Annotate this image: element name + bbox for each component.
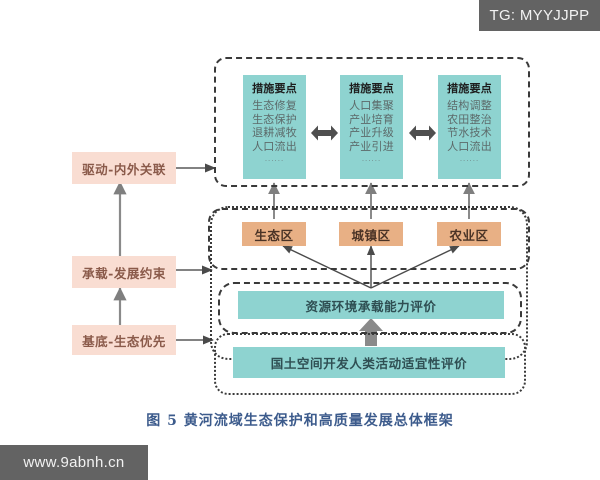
driver-label-1[interactable]: 承载-发展约束 — [72, 256, 176, 288]
measure-card-0-ellipsis: ······ — [265, 157, 284, 165]
tg-watermark-text: TG: MYYJJPP — [490, 7, 590, 24]
figure-canvas: 驱动-内外关联 承载-发展约束 基底-生态优先 措施要点 生态修复 生态保护 退… — [0, 0, 600, 480]
measure-card-1-title: 措施要点 — [349, 80, 394, 96]
evaluation-suitability-bar[interactable]: 国土空间开发人类活动适宜性评价 — [233, 347, 505, 378]
zone-box-2-label: 农业区 — [449, 225, 488, 244]
measure-card-agricultural[interactable]: 措施要点 结构调整 农田整治 节水技术 人口流出 ······ — [438, 75, 501, 179]
measure-card-urban[interactable]: 措施要点 人口集聚 产业培育 产业升级 产业引进 ······ — [340, 75, 403, 179]
measure-card-1-item-2: 产业升级 — [349, 126, 394, 140]
measure-card-2-item-3: 人口流出 — [447, 140, 492, 154]
driver-label-0[interactable]: 驱动-内外关联 — [72, 152, 176, 184]
measure-card-0-item-2: 退耕减牧 — [252, 126, 297, 140]
measure-card-0-item-1: 生态保护 — [252, 113, 297, 127]
measure-card-1-item-0: 人口集聚 — [349, 99, 394, 113]
measure-card-ecological[interactable]: 措施要点 生态修复 生态保护 退耕减牧 人口流出 ······ — [243, 75, 306, 179]
measure-card-2-item-0: 结构调整 — [447, 99, 492, 113]
measure-card-2-ellipsis: ······ — [460, 157, 479, 165]
evaluation-capacity-label: 资源环境承载能力评价 — [305, 296, 436, 315]
zone-box-1-label: 城镇区 — [351, 225, 390, 244]
zone-box-urban[interactable]: 城镇区 — [339, 222, 403, 246]
measure-card-2-item-2: 节水技术 — [447, 126, 492, 140]
driver-label-1-text: 承载-发展约束 — [82, 263, 166, 282]
zone-box-0-label: 生态区 — [254, 225, 293, 244]
measure-card-1-item-1: 产业培育 — [349, 113, 394, 127]
zone-box-ecological[interactable]: 生态区 — [242, 222, 306, 246]
site-watermark-badge: www.9abnh.cn — [0, 445, 148, 480]
measure-card-0-item-3: 人口流出 — [252, 140, 297, 154]
site-watermark-text: www.9abnh.cn — [23, 454, 124, 471]
measure-card-2-item-1: 农田整治 — [447, 113, 492, 127]
measure-card-0-title: 措施要点 — [252, 80, 297, 96]
driver-label-2-text: 基底-生态优先 — [82, 331, 166, 350]
driver-label-0-text: 驱动-内外关联 — [82, 159, 166, 178]
driver-label-2[interactable]: 基底-生态优先 — [72, 325, 176, 355]
zone-box-agricultural[interactable]: 农业区 — [437, 222, 501, 246]
measure-card-2-title: 措施要点 — [447, 80, 492, 96]
measure-card-1-item-3: 产业引进 — [349, 140, 394, 154]
evaluation-capacity-bar[interactable]: 资源环境承载能力评价 — [238, 291, 504, 319]
tg-watermark-badge: TG: MYYJJPP — [479, 0, 600, 31]
measure-card-0-item-0: 生态修复 — [252, 99, 297, 113]
evaluation-suitability-label: 国土空间开发人类活动适宜性评价 — [271, 353, 468, 372]
figure-caption: 图 5 黄河流域生态保护和高质量发展总体框架 — [0, 410, 600, 430]
measure-card-1-ellipsis: ······ — [362, 157, 381, 165]
